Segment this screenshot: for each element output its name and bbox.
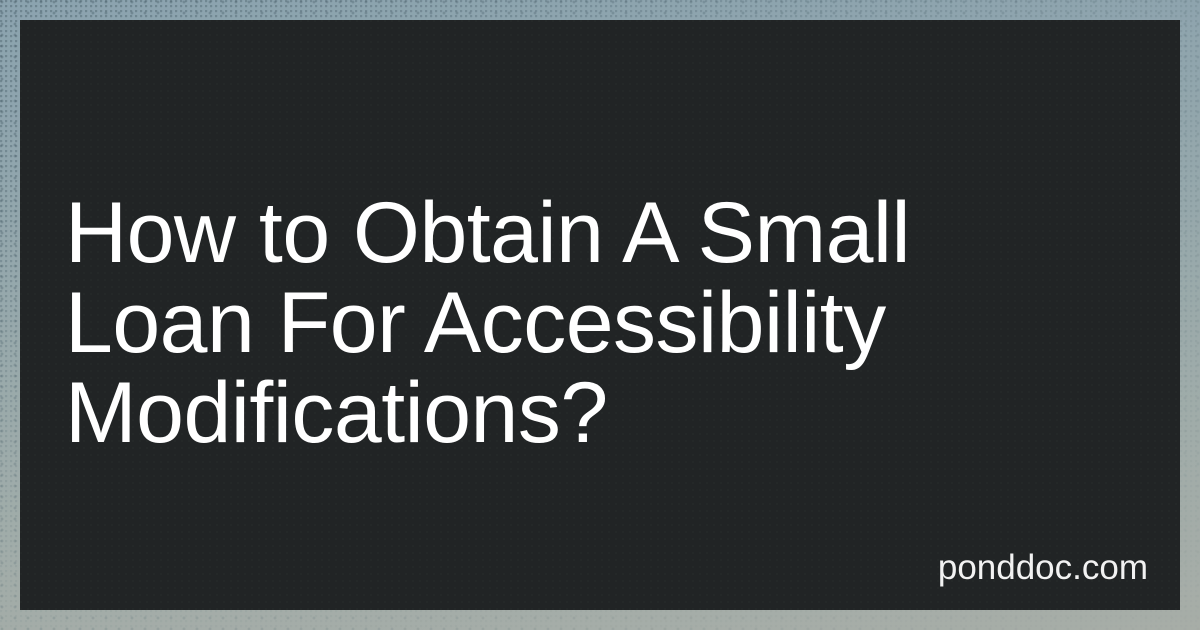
site-domain-label: ponddoc.com xyxy=(938,548,1148,588)
page-title: How to Obtain A Small Loan For Accessibi… xyxy=(65,188,1055,458)
open-graph-card: How to Obtain A Small Loan For Accessibi… xyxy=(0,0,1200,630)
content-panel: How to Obtain A Small Loan For Accessibi… xyxy=(20,20,1180,610)
